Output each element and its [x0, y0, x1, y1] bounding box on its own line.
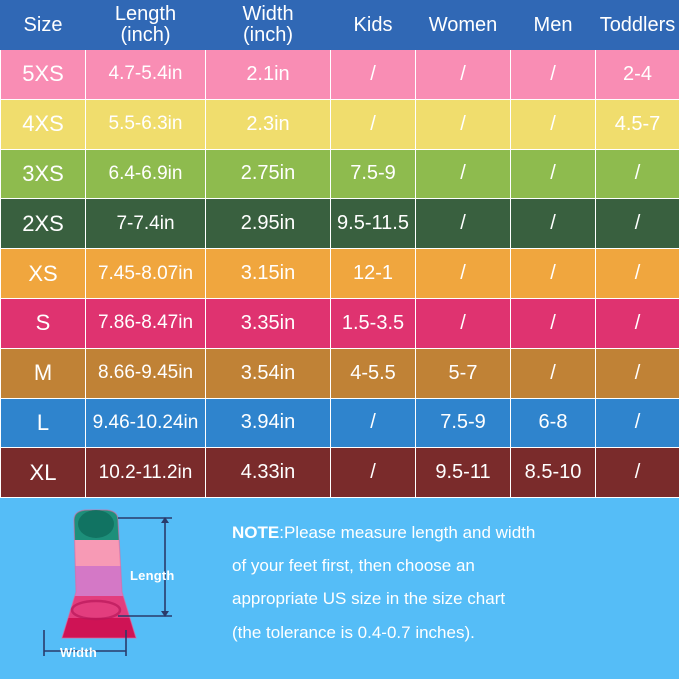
cell-men: 8.5-10	[511, 448, 596, 498]
table-row: S7.86-8.47in3.35in1.5-3.5///	[1, 298, 679, 348]
cell-kids: /	[331, 448, 416, 498]
cell-length: 10.2-11.2in	[86, 448, 206, 498]
length-dimension-label: Length	[130, 568, 175, 583]
header-label-men: Men	[534, 14, 573, 36]
cell-size: XL	[1, 448, 86, 498]
cell-kids: /	[331, 398, 416, 448]
cell-length: 5.5-6.3in	[86, 99, 206, 149]
column-header-kids: Kids	[331, 1, 416, 50]
cell-kids: 4-5.5	[331, 348, 416, 398]
cell-width: 2.95in	[206, 199, 331, 249]
cell-men: /	[511, 50, 596, 100]
column-header-men: Men	[511, 1, 596, 50]
cell-toddlers: 2-4	[596, 50, 679, 100]
cell-size: L	[1, 398, 86, 448]
cell-kids: /	[331, 99, 416, 149]
column-header-women: Women	[416, 1, 511, 50]
cell-width: 4.33in	[206, 448, 331, 498]
cell-men: 6-8	[511, 398, 596, 448]
cell-toddlers: /	[596, 298, 679, 348]
cell-women: /	[416, 50, 511, 100]
note-line-1-text: :Please measure length and width	[279, 523, 535, 542]
cell-toddlers: 4.5-7	[596, 99, 679, 149]
header-unit-width: (inch)	[208, 25, 328, 46]
fin-illustration-area: Length Width	[0, 498, 212, 679]
cell-kids: 12-1	[331, 249, 416, 299]
cell-toddlers: /	[596, 249, 679, 299]
cell-toddlers: /	[596, 149, 679, 199]
cell-width: 2.3in	[206, 99, 331, 149]
cell-length: 7-7.4in	[86, 199, 206, 249]
table-body: 5XS4.7-5.4in2.1in///2-44XS5.5-6.3in2.3in…	[1, 50, 679, 498]
note-label: NOTE	[232, 523, 279, 542]
table-row: L9.46-10.24in3.94in/7.5-96-8/	[1, 398, 679, 448]
cell-size: 3XS	[1, 149, 86, 199]
cell-width: 3.35in	[206, 298, 331, 348]
header-label-kids: Kids	[354, 14, 393, 36]
cell-kids: /	[331, 50, 416, 100]
table-row: 3XS6.4-6.9in2.75in7.5-9///	[1, 149, 679, 199]
cell-size: 2XS	[1, 199, 86, 249]
size-chart-page: Size Length (inch) Width (inch) Kids Wom…	[0, 0, 679, 679]
header-label-toddlers: Toddlers	[600, 14, 676, 36]
swim-fin-icon	[22, 506, 212, 676]
table-row: XS7.45-8.07in3.15in12-1///	[1, 249, 679, 299]
cell-length: 9.46-10.24in	[86, 398, 206, 448]
note-line-1: NOTE:Please measure length and width	[232, 516, 661, 549]
column-header-toddlers: Toddlers	[596, 1, 679, 50]
table-row: 4XS5.5-6.3in2.3in///4.5-7	[1, 99, 679, 149]
cell-women: /	[416, 249, 511, 299]
header-row: Size Length (inch) Width (inch) Kids Wom…	[1, 1, 679, 50]
cell-size: 5XS	[1, 50, 86, 100]
cell-width: 3.54in	[206, 348, 331, 398]
cell-length: 7.45-8.07in	[86, 249, 206, 299]
cell-men: /	[511, 298, 596, 348]
column-header-width: Width (inch)	[206, 1, 331, 50]
note-line-4: (the tolerance is 0.4-0.7 inches).	[232, 616, 661, 649]
cell-width: 3.94in	[206, 398, 331, 448]
cell-women: 7.5-9	[416, 398, 511, 448]
cell-kids: 9.5-11.5	[331, 199, 416, 249]
cell-women: /	[416, 199, 511, 249]
table-row: XL10.2-11.2in4.33in/9.5-118.5-10/	[1, 448, 679, 498]
cell-width: 2.75in	[206, 149, 331, 199]
header-label-women: Women	[429, 14, 498, 36]
cell-women: /	[416, 298, 511, 348]
header-label-size: Size	[24, 14, 63, 36]
header-label-width: Width	[242, 3, 293, 25]
cell-women: /	[416, 99, 511, 149]
cell-toddlers: /	[596, 348, 679, 398]
table-row: 5XS4.7-5.4in2.1in///2-4	[1, 50, 679, 100]
note-line-3: appropriate US size in the size chart	[232, 582, 661, 615]
fin-foot-pocket-opening	[78, 510, 114, 538]
column-header-length: Length (inch)	[86, 1, 206, 50]
cell-width: 2.1in	[206, 50, 331, 100]
cell-toddlers: /	[596, 199, 679, 249]
note-text: NOTE:Please measure length and width of …	[212, 498, 679, 679]
cell-size: S	[1, 298, 86, 348]
cell-size: M	[1, 348, 86, 398]
cell-women: 5-7	[416, 348, 511, 398]
note-panel: Length Width NOTE:Please measure length …	[0, 498, 679, 679]
header-unit-length: (inch)	[88, 25, 203, 46]
cell-men: /	[511, 149, 596, 199]
header-label-length: Length	[115, 3, 176, 25]
cell-women: 9.5-11	[416, 448, 511, 498]
table-row: M8.66-9.45in3.54in4-5.55-7//	[1, 348, 679, 398]
cell-width: 3.15in	[206, 249, 331, 299]
cell-length: 4.7-5.4in	[86, 50, 206, 100]
table-header: Size Length (inch) Width (inch) Kids Wom…	[1, 1, 679, 50]
cell-men: /	[511, 199, 596, 249]
column-header-size: Size	[1, 1, 86, 50]
cell-kids: 7.5-9	[331, 149, 416, 199]
cell-length: 8.66-9.45in	[86, 348, 206, 398]
cell-men: /	[511, 348, 596, 398]
size-chart-table: Size Length (inch) Width (inch) Kids Wom…	[0, 0, 679, 498]
cell-toddlers: /	[596, 448, 679, 498]
width-dimension-label: Width	[60, 645, 97, 660]
length-dimension-arrow	[118, 517, 172, 617]
cell-size: 4XS	[1, 99, 86, 149]
cell-length: 6.4-6.9in	[86, 149, 206, 199]
cell-men: /	[511, 249, 596, 299]
cell-women: /	[416, 149, 511, 199]
cell-men: /	[511, 99, 596, 149]
cell-toddlers: /	[596, 398, 679, 448]
cell-length: 7.86-8.47in	[86, 298, 206, 348]
cell-size: XS	[1, 249, 86, 299]
cell-kids: 1.5-3.5	[331, 298, 416, 348]
table-row: 2XS7-7.4in2.95in9.5-11.5///	[1, 199, 679, 249]
note-line-2: of your feet first, then choose an	[232, 549, 661, 582]
fin-illustration: Length Width	[22, 506, 212, 676]
